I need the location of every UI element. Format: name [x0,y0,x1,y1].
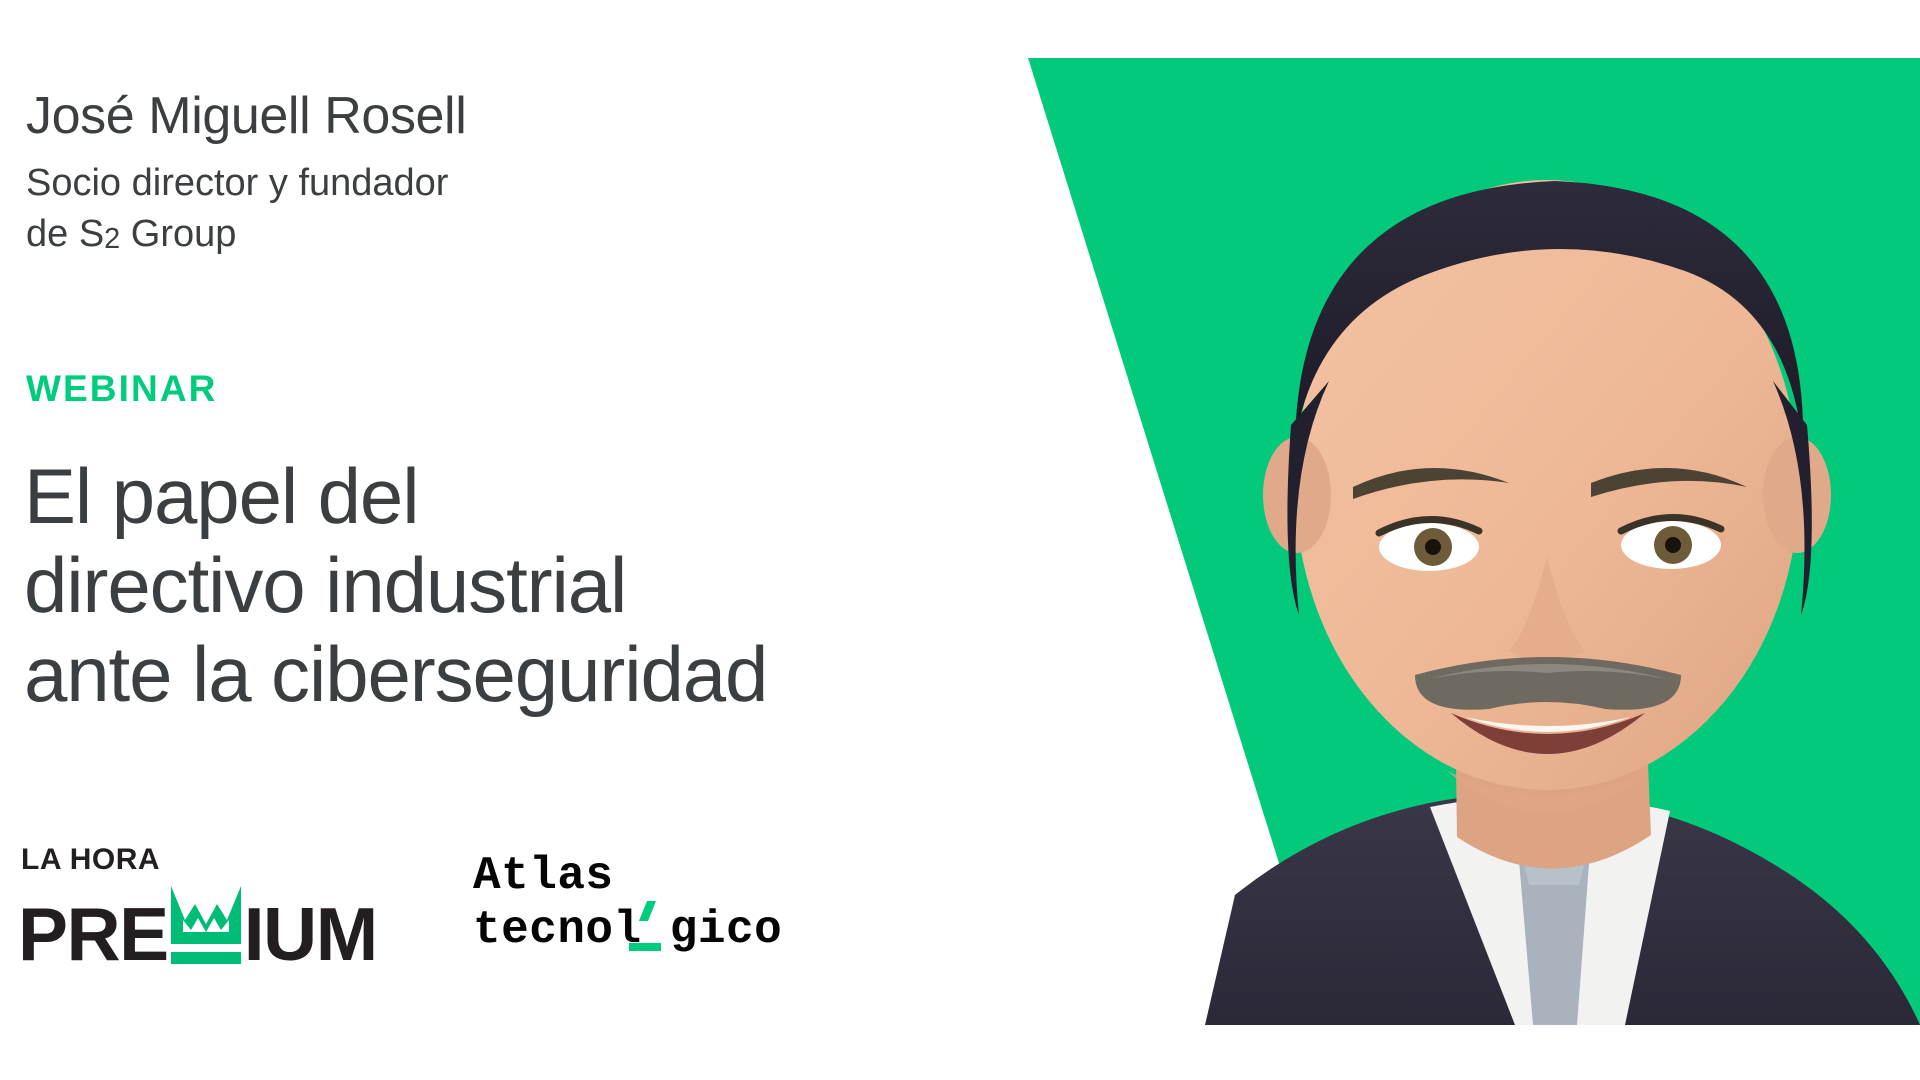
atlas-line-2-before: tecnol [473,904,642,956]
speaker-role-line-1: Socio director y fundador [26,162,448,204]
speaker-role-line-2-suffix: Group [120,213,236,255]
la-hora-premium-wordmark: PRE IUM [18,880,378,966]
headline-line-3: ante la ciberseguridad [24,630,1154,719]
la-hora-premium-top-text: LA HORA [21,845,378,875]
crown-icon [169,880,243,966]
speaker-role: Socio director y fundador de S2 Group [26,158,646,259]
la-hora-premium-logo[interactable]: LA HORA PRE IUM [18,845,378,966]
speaker-block: José Miguell Rosell Socio director y fun… [26,88,786,259]
premium-word-right: IUM [244,902,377,967]
atlas-tecnologico-logo[interactable]: Atlas tecnol gico [473,845,782,958]
atlas-line-2-after: gico [670,904,782,956]
speaker-role-line-2-prefix: de S [26,213,104,255]
atlas-line-1: Atlas [473,849,782,903]
premium-word-left: PRE [18,902,168,967]
speaker-name: José Miguell Rosell [26,88,786,144]
headline-line-1: El papel del [24,452,1154,541]
page-title: El papel del directivo industrial ante l… [24,452,1154,719]
atlas-line-2: tecnol gico [473,903,782,957]
accent-underbar-icon [629,943,661,951]
kicker-label: WEBINAR [26,368,217,410]
speaker-role-line-2-sub: 2 [104,223,120,255]
logo-row: LA HORA PRE IUM Atlas tecnol gico [18,845,782,966]
webinar-promo-card: José Miguell Rosell Socio director y fun… [0,0,1920,1080]
speaker-portrait [1085,95,1920,1025]
headline-line-2: directivo industrial [24,541,1154,630]
